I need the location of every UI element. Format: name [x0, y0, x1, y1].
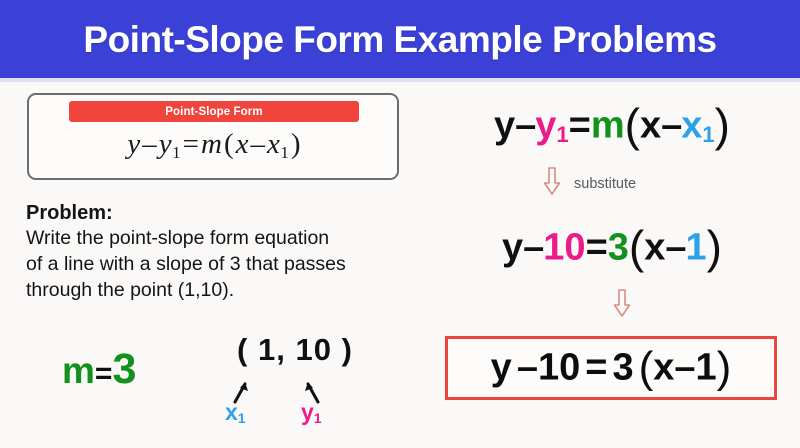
point-y-value: 10: [296, 332, 332, 367]
sub-eq-equals: =: [586, 226, 608, 268]
formula-card: Point-Slope Form y–y1=m(x–x1): [27, 93, 399, 180]
slope-variable: m: [62, 350, 95, 391]
general-eq-y1-subscript: 1: [556, 122, 568, 147]
point-open-paren: (: [237, 332, 248, 367]
formula-open-paren: (: [222, 128, 236, 160]
general-eq-close-paren: ): [715, 99, 730, 151]
given-values-row: m=3 ( 1, 10 ) x1: [0, 330, 424, 442]
general-equation: y–y1=m(x–x1): [424, 102, 800, 148]
formula-x: x: [236, 128, 249, 160]
sub-eq-y-value: 10: [543, 226, 585, 268]
general-eq-x1-subscript: 1: [702, 122, 714, 147]
point-x-value: 1: [258, 332, 276, 367]
answer-close-paren: ): [717, 343, 732, 392]
formula-minus-1: –: [140, 128, 159, 160]
slope-number: 3: [112, 345, 136, 393]
answer-y: y: [491, 346, 512, 388]
sub-eq-open-paren: (: [629, 221, 644, 273]
substitute-caption: substitute: [574, 176, 636, 192]
formula-y1-subscript: 1: [172, 143, 181, 162]
general-eq-minus-2: –: [661, 104, 681, 146]
down-arrow-icon: [612, 288, 632, 330]
formula-close-paren: ): [289, 128, 303, 160]
problem-line-3: through the point (1,10).: [26, 278, 406, 304]
substituted-equation: y–10=3(x–1): [424, 224, 800, 270]
given-point-group: ( 1, 10 ) x1: [205, 334, 385, 438]
right-column-solution: y–y1=m(x–x1) substitute y–10=3(x–1): [424, 82, 800, 448]
general-eq-x1: x: [681, 104, 702, 146]
answer-equals: =: [585, 346, 607, 388]
answer-x: x: [653, 346, 674, 388]
formula-equals: =: [181, 128, 201, 160]
slope-given-value: m=3: [62, 348, 136, 391]
answer-minus-2: –: [674, 346, 695, 388]
formula-minus-2: –: [249, 128, 268, 160]
general-eq-equals: =: [569, 104, 591, 146]
y1-annotation-label: y1: [301, 401, 322, 425]
point-slope-formula: y–y1=m(x–x1): [29, 128, 401, 163]
point-comma: ,: [276, 332, 286, 367]
formula-y: y: [127, 128, 140, 160]
sub-eq-close-paren: ): [707, 221, 722, 273]
page-title: Point-Slope Form Example Problems: [83, 21, 716, 58]
given-point-coordinates: ( 1, 10 ): [205, 334, 385, 365]
general-eq-y: y: [494, 104, 515, 146]
substitute-step: substitute: [424, 164, 800, 206]
x1-annotation-label: x1: [225, 401, 246, 425]
sub-eq-minus-2: –: [665, 226, 685, 268]
header-banner: Point-Slope Form Example Problems: [0, 0, 800, 78]
answer-minus-1: –: [517, 346, 538, 388]
problem-line-1: Write the point-slope form equation: [26, 226, 406, 252]
problem-statement: Problem: Write the point-slope form equa…: [26, 200, 406, 304]
sub-eq-minus-1: –: [523, 226, 543, 268]
general-eq-x: x: [640, 104, 661, 146]
final-answer-equation: y–10=3(x–1): [491, 346, 732, 390]
answer-slope: 3: [612, 346, 633, 388]
general-eq-m: m: [591, 104, 625, 146]
left-column: Point-Slope Form y–y1=m(x–x1) Problem: W…: [0, 82, 424, 448]
sub-eq-x-value: 1: [686, 226, 707, 268]
slope-equals: =: [95, 357, 113, 390]
down-arrow-icon: [542, 166, 562, 201]
substitute-step-inner: substitute: [542, 166, 636, 201]
answer-x-value: 1: [696, 346, 717, 388]
formula-card-label: Point-Slope Form: [165, 106, 262, 118]
formula-card-label-bar: Point-Slope Form: [69, 101, 359, 122]
formula-x1-subscript: 1: [280, 143, 289, 162]
result-step-arrow: [424, 288, 800, 330]
formula-y1-var: y: [159, 128, 172, 160]
sub-eq-slope: 3: [608, 226, 629, 268]
point-annotations: x1 y1: [205, 376, 385, 438]
point-close-paren: ): [342, 332, 353, 367]
general-eq-open-paren: (: [625, 99, 640, 151]
general-eq-y1: y: [535, 104, 556, 146]
general-eq-minus-1: –: [515, 104, 535, 146]
problem-line-2: of a line with a slope of 3 that passes: [26, 252, 406, 278]
problem-heading: Problem:: [26, 200, 406, 226]
formula-m: m: [201, 128, 222, 160]
point-slope-form-infographic: Point-Slope Form Example Problems Point-…: [0, 0, 800, 448]
final-answer-box: y–10=3(x–1): [445, 336, 777, 400]
content-area: Point-Slope Form y–y1=m(x–x1) Problem: W…: [0, 82, 800, 448]
answer-y-value: 10: [538, 346, 580, 388]
sub-eq-x: x: [644, 226, 665, 268]
sub-eq-y: y: [502, 226, 523, 268]
answer-open-paren: (: [639, 343, 654, 392]
formula-x1-var: x: [267, 128, 280, 160]
